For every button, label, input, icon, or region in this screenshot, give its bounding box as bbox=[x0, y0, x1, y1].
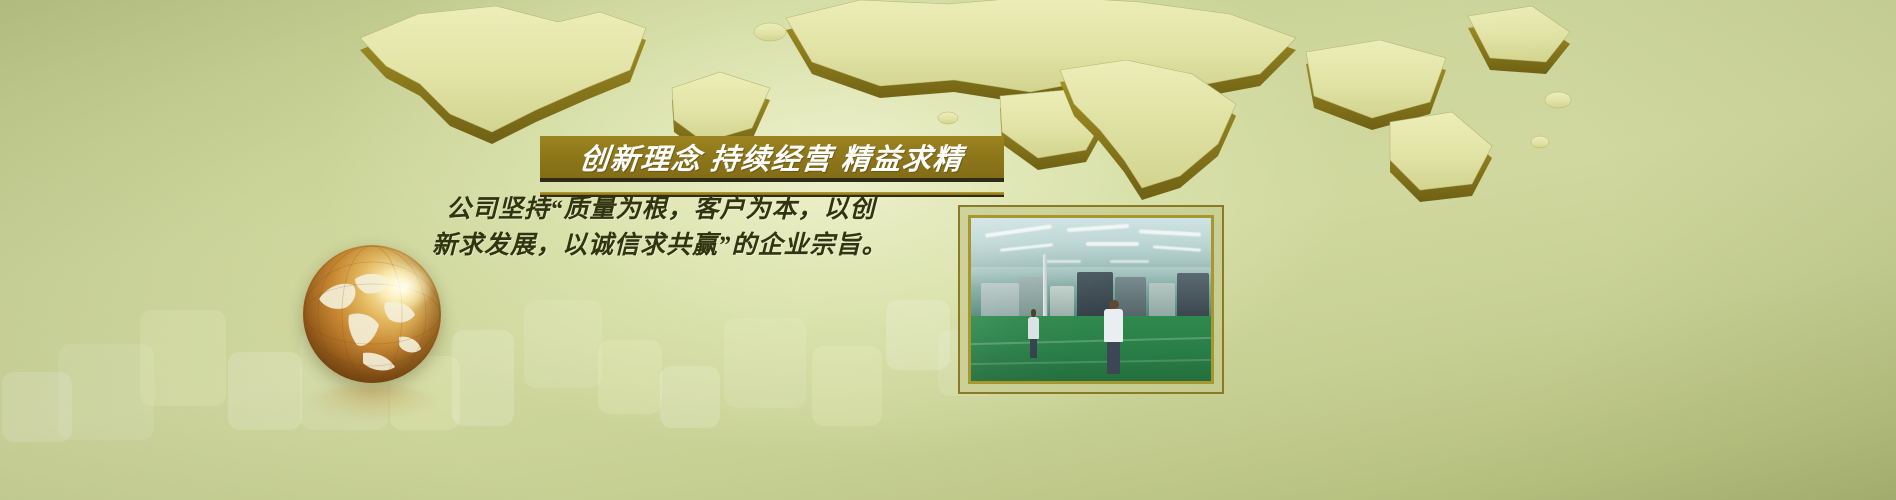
photo-worker bbox=[1101, 300, 1127, 375]
headline-gold-bar: 创新理念 持续经营 精益求精 bbox=[540, 136, 1004, 178]
photo-worker-secondary bbox=[1026, 309, 1040, 358]
globe-graphic bbox=[303, 245, 448, 420]
headline-block: 创新理念 持续经营 精益求精 bbox=[540, 136, 1004, 178]
headline-text: 创新理念 持续经营 精益求精 bbox=[578, 136, 966, 178]
company-culture-banner: 创新理念 持续经营 精益求精 公司坚持“质量为根，客户为本，以创 新求发展，以诚… bbox=[0, 0, 1896, 500]
factory-workshop-photo bbox=[971, 218, 1211, 381]
globe-reflection bbox=[309, 385, 435, 419]
globe-highlight bbox=[375, 264, 433, 310]
globe-icon bbox=[303, 245, 441, 383]
photo-floor bbox=[971, 316, 1211, 381]
subtitle-line-1: 公司坚持“质量为根，客户为本，以创 bbox=[446, 192, 966, 228]
factory-photo-frame bbox=[958, 205, 1224, 394]
world-map-south-america bbox=[1030, 60, 1310, 200]
subtitle-line-2: 新求发展，以诚信求共赢”的企业宗旨。 bbox=[432, 228, 966, 264]
factory-photo-inner-frame bbox=[968, 215, 1214, 384]
subtitle-block: 公司坚持“质量为根，客户为本，以创 新求发展，以诚信求共赢”的企业宗旨。 bbox=[446, 192, 966, 264]
